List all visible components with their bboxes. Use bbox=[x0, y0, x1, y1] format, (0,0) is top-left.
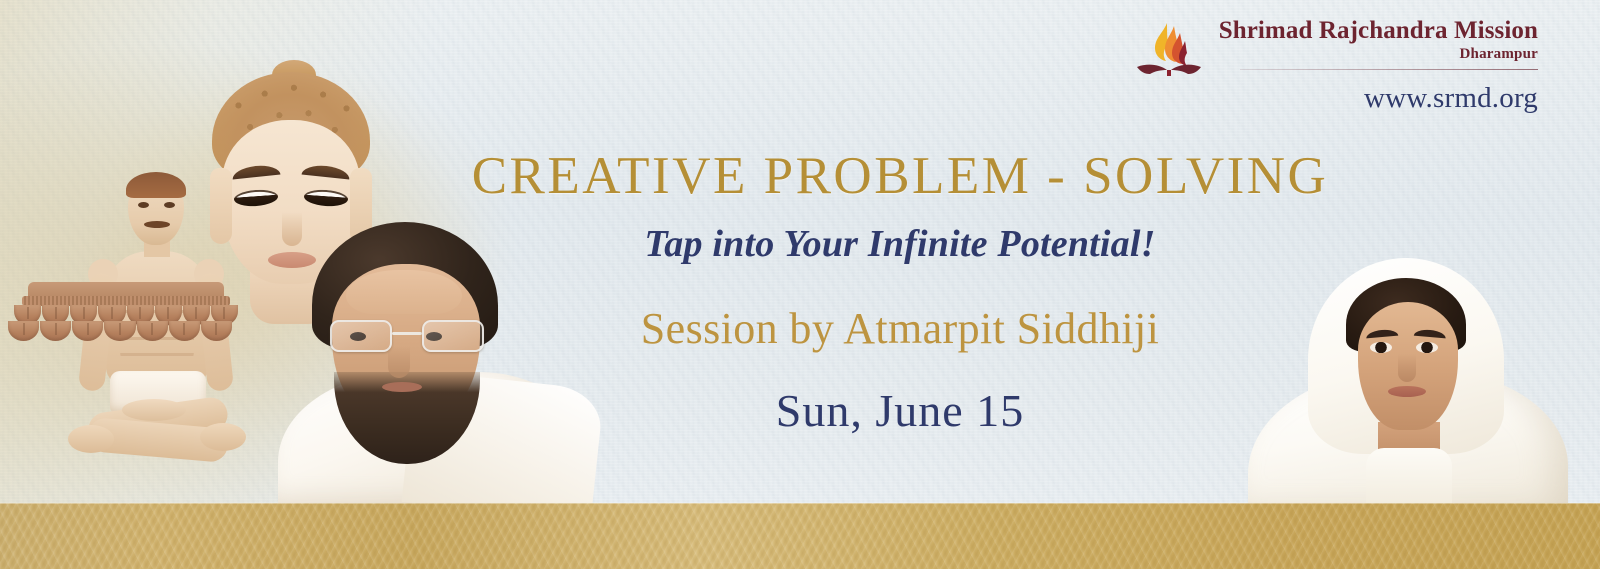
flame-over-book-icon bbox=[1133, 21, 1205, 83]
event-speaker: Session by Atmarpit Siddhiji bbox=[450, 303, 1350, 354]
eyeglass-lens-left bbox=[330, 320, 392, 352]
ascetic-hands bbox=[122, 399, 186, 421]
event-headline: CREATIVE PROBLEM - SOLVING bbox=[450, 146, 1350, 206]
woman-eye-right bbox=[1416, 342, 1438, 353]
bottom-gold-band bbox=[0, 503, 1600, 569]
srmd-logo-block[interactable]: Shrimad Rajchandra Mission Dharampur bbox=[1133, 18, 1538, 83]
woman-lips bbox=[1388, 386, 1426, 397]
man-forehead bbox=[346, 270, 462, 314]
logo-wordmark: Shrimad Rajchandra Mission Dharampur bbox=[1219, 18, 1538, 70]
logo-title: Shrimad Rajchandra Mission bbox=[1219, 18, 1538, 44]
woman-nose bbox=[1398, 354, 1416, 382]
logo-subtitle: Dharampur bbox=[1460, 45, 1538, 63]
ascetic-hair bbox=[126, 172, 186, 198]
lotus-pedestal bbox=[10, 282, 242, 344]
man-lips bbox=[382, 382, 422, 392]
ascetic-eye-right bbox=[164, 202, 175, 208]
ascetic-moustache bbox=[144, 221, 170, 228]
event-date: Sun, June 15 bbox=[450, 384, 1350, 437]
buddha-nose bbox=[282, 212, 302, 246]
lotus-petal-row-lower bbox=[8, 321, 232, 341]
ascetic-eye-left bbox=[138, 202, 149, 208]
woman-eye-left bbox=[1370, 342, 1392, 353]
man-nose bbox=[388, 346, 410, 378]
ascetic-foot-left bbox=[68, 425, 114, 453]
event-banner: Shrimad Rajchandra Mission Dharampur www… bbox=[0, 0, 1600, 569]
ascetic-foot-right bbox=[200, 423, 246, 451]
logo-divider bbox=[1240, 69, 1538, 70]
woman-collar bbox=[1366, 448, 1452, 510]
event-tagline: Tap into Your Infinite Potential! bbox=[450, 222, 1350, 266]
website-url[interactable]: www.srmd.org bbox=[1364, 82, 1538, 115]
eyeglass-bridge bbox=[392, 332, 422, 335]
